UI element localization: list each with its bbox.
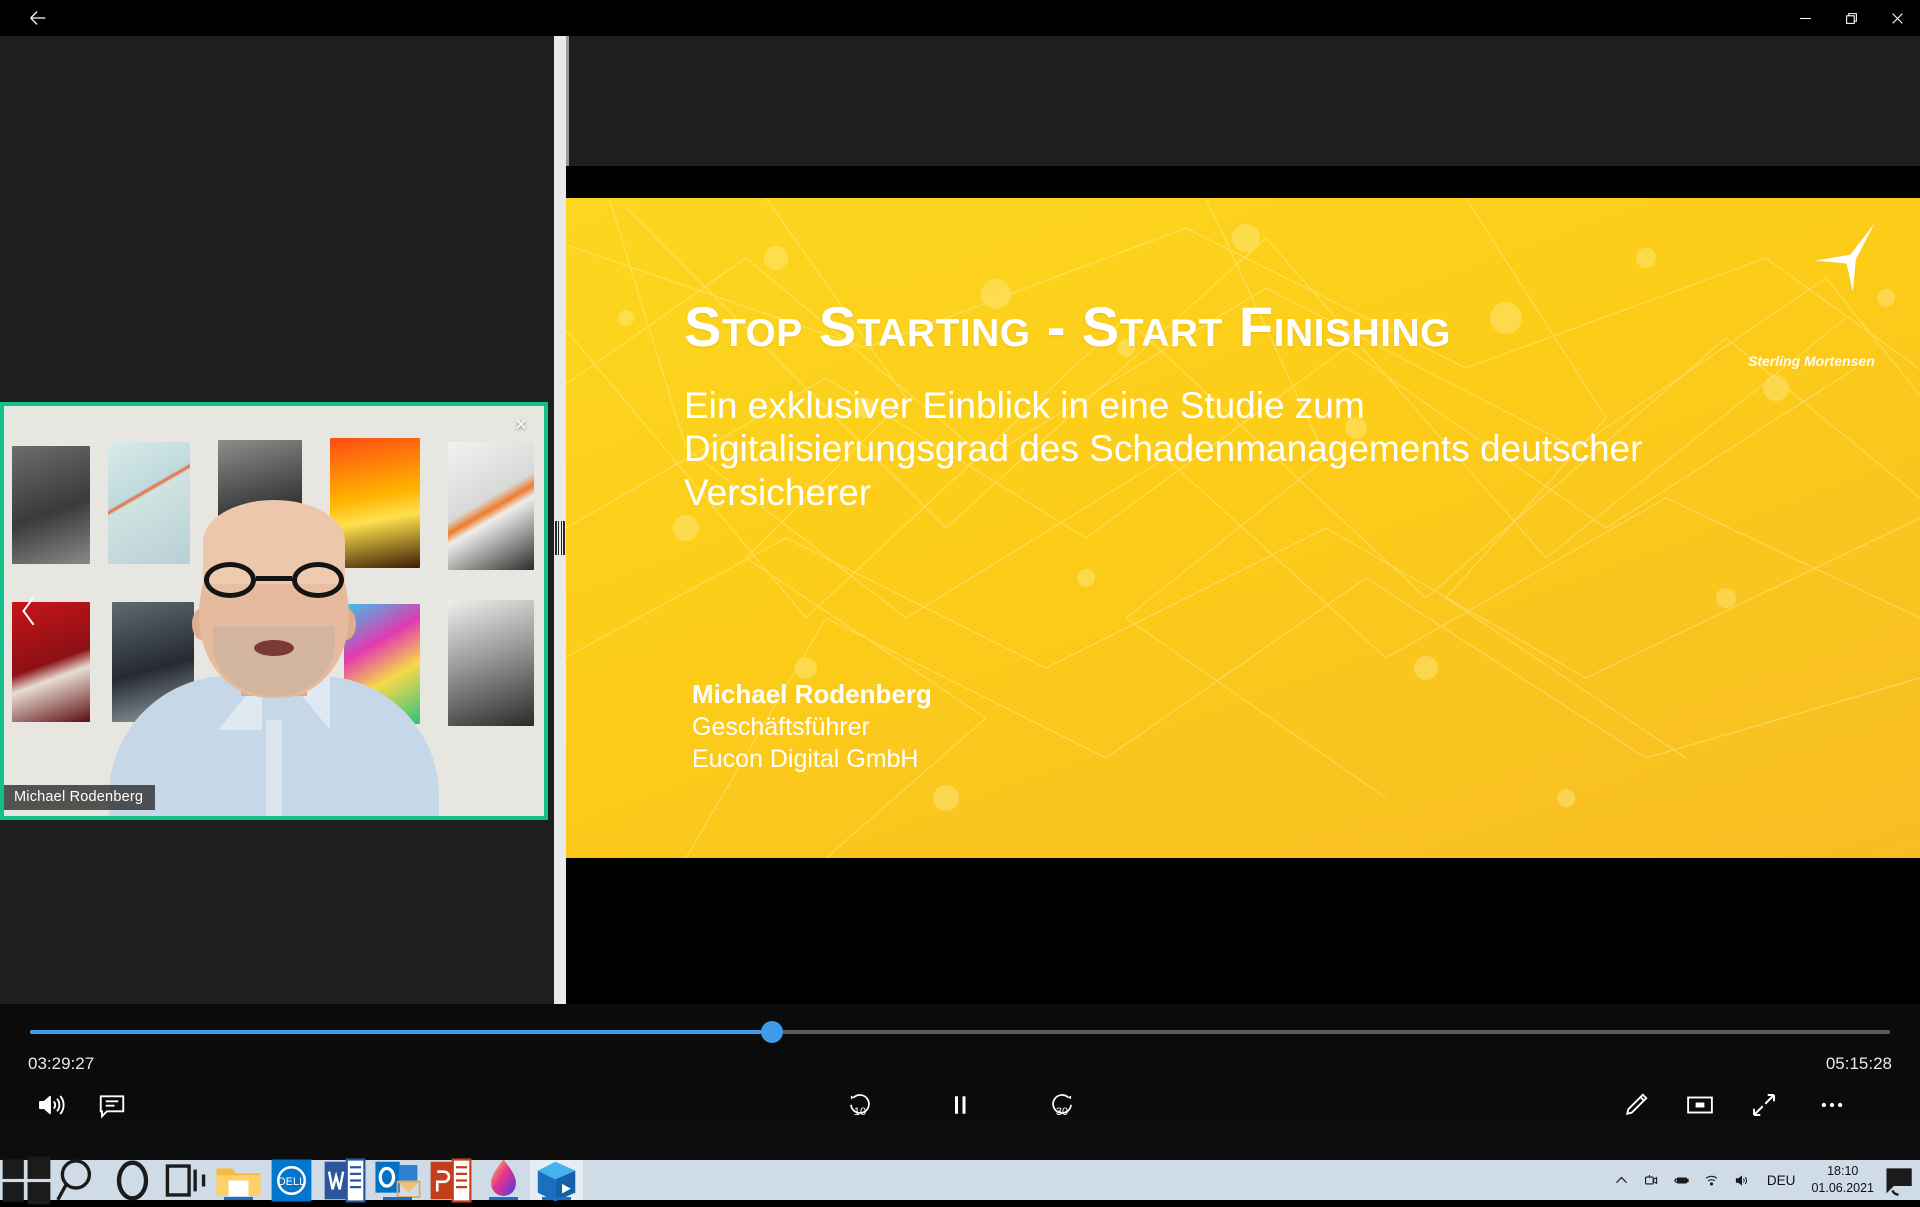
participant-mouth bbox=[254, 640, 294, 656]
slide-subtitle: Ein exklusiver Einblick in eine Studie z… bbox=[684, 384, 1684, 514]
clock-time: 18:10 bbox=[1811, 1163, 1874, 1180]
captions-button[interactable] bbox=[90, 1086, 134, 1124]
wifi-tray-button[interactable] bbox=[1697, 1160, 1727, 1200]
minimize-button[interactable] bbox=[1782, 0, 1828, 36]
dell-icon: DELL bbox=[265, 1154, 318, 1207]
system-tray: DEU 18:10 01.06.2021 bbox=[1607, 1160, 1920, 1200]
camera-icon bbox=[1643, 1172, 1660, 1189]
slide-letterbox-top bbox=[566, 166, 1920, 198]
current-time-label: 03:29:27 bbox=[28, 1054, 94, 1074]
camera-tray-button[interactable] bbox=[1637, 1160, 1667, 1200]
language-indicator[interactable]: DEU bbox=[1757, 1173, 1806, 1188]
close-button[interactable] bbox=[1874, 0, 1920, 36]
total-time-label: 05:15:28 bbox=[1826, 1054, 1892, 1074]
seek-bar[interactable] bbox=[30, 1030, 1890, 1034]
video-background-wall bbox=[4, 406, 544, 816]
volume-icon bbox=[1733, 1172, 1750, 1189]
volume-icon bbox=[35, 1090, 65, 1120]
wifi-icon bbox=[1703, 1172, 1720, 1189]
more-horizontal-icon bbox=[1817, 1090, 1847, 1120]
taskbar-item-dell[interactable]: DELL bbox=[265, 1160, 318, 1200]
volume-button[interactable] bbox=[28, 1086, 72, 1124]
restore-button[interactable] bbox=[1828, 0, 1874, 36]
search-icon bbox=[53, 1154, 106, 1207]
shirt-placket bbox=[266, 720, 282, 816]
miniplayer-button[interactable] bbox=[1678, 1086, 1722, 1124]
pause-icon bbox=[945, 1090, 975, 1120]
captions-icon bbox=[97, 1090, 127, 1120]
minimize-icon bbox=[1799, 12, 1812, 25]
left-video-pane: × Michael Rodenberg bbox=[0, 36, 554, 1040]
glasses-bridge bbox=[256, 576, 292, 581]
taskbar-item-search[interactable] bbox=[53, 1160, 106, 1200]
glasses-lens-left bbox=[204, 562, 256, 598]
forward-amount-text: 30 bbox=[1056, 1106, 1068, 1118]
poster-art bbox=[448, 600, 534, 726]
presenter-company: Eucon Digital GmbH bbox=[692, 743, 932, 775]
taskbar-item-task-view[interactable] bbox=[159, 1160, 212, 1200]
notifications-button[interactable] bbox=[1882, 1160, 1920, 1200]
taskbar-item-start[interactable] bbox=[0, 1160, 53, 1200]
slide-title: Stop Starting - Start Finishing bbox=[684, 294, 1451, 359]
forward-30-button[interactable]: 30 bbox=[1040, 1086, 1084, 1124]
play-pause-button[interactable] bbox=[938, 1086, 982, 1124]
taskbar-item-file-explorer[interactable] bbox=[212, 1160, 265, 1200]
presentation-slide[interactable]: Stop Starting - Start Finishing Sterling… bbox=[566, 198, 1920, 858]
pencil-icon bbox=[1621, 1090, 1651, 1120]
taskbar-item-powerpoint[interactable] bbox=[424, 1160, 477, 1200]
player-controls: 03:29:27 05:15:28 10 bbox=[0, 1004, 1920, 1124]
participant-figure bbox=[109, 486, 439, 816]
slide-presenter-block: Michael Rodenberg Geschäftsführer Eucon … bbox=[692, 678, 932, 775]
taskbar-item-media-player[interactable] bbox=[530, 1160, 583, 1200]
back-arrow-icon bbox=[27, 7, 49, 29]
chevron-left-icon bbox=[18, 594, 40, 628]
app-root: × Michael Rodenberg bbox=[0, 0, 1920, 1200]
windows-taskbar: DELL bbox=[0, 1160, 1920, 1200]
seek-bar-progress bbox=[30, 1030, 772, 1034]
taskbar-item-word[interactable] bbox=[318, 1160, 371, 1200]
back-button[interactable] bbox=[14, 0, 62, 36]
rewind-10-icon: 10 bbox=[845, 1090, 875, 1120]
seek-bar-thumb[interactable] bbox=[761, 1021, 783, 1043]
word-icon bbox=[318, 1154, 371, 1207]
slide-attribution: Sterling Mortensen bbox=[1748, 353, 1875, 369]
rewind-amount-text: 10 bbox=[854, 1106, 866, 1118]
svg-text:DELL: DELL bbox=[278, 1175, 306, 1187]
player-stage: × Michael Rodenberg bbox=[0, 36, 1920, 1160]
glasses-lens-right bbox=[292, 562, 344, 598]
miniplayer-icon bbox=[1685, 1090, 1715, 1120]
fullscreen-icon bbox=[1749, 1090, 1779, 1120]
presenter-name: Michael Rodenberg bbox=[692, 678, 932, 711]
poster-art bbox=[448, 442, 534, 570]
battery-tray-button[interactable] bbox=[1667, 1160, 1697, 1200]
windows-start-icon bbox=[0, 1154, 53, 1207]
close-video-tile-button[interactable]: × bbox=[508, 412, 534, 438]
battery-charging-icon bbox=[1673, 1172, 1690, 1189]
participant-name-badge: Michael Rodenberg bbox=[4, 785, 155, 810]
splitter-grip bbox=[555, 521, 565, 555]
eucon-star-logo-icon bbox=[1806, 216, 1884, 296]
slide-pane: Stop Starting - Start Finishing Sterling… bbox=[566, 36, 1920, 1040]
show-hidden-icons-button[interactable] bbox=[1607, 1160, 1637, 1200]
chevron-up-icon bbox=[1613, 1172, 1630, 1189]
taskbar-item-outlook[interactable] bbox=[371, 1160, 424, 1200]
scroll-indicator[interactable] bbox=[566, 36, 569, 166]
cortana-icon bbox=[106, 1154, 159, 1207]
participant-video-tile[interactable]: × Michael Rodenberg bbox=[0, 402, 548, 820]
powerpoint-icon bbox=[424, 1154, 477, 1207]
taskbar-item-paint-3d[interactable] bbox=[477, 1160, 530, 1200]
more-options-button[interactable] bbox=[1810, 1086, 1854, 1124]
left-pane-filler-top bbox=[0, 36, 554, 366]
close-icon bbox=[1891, 12, 1904, 25]
clock-date: 01.06.2021 bbox=[1811, 1180, 1874, 1197]
participant-glasses bbox=[204, 562, 344, 598]
fullscreen-button[interactable] bbox=[1742, 1086, 1786, 1124]
control-button-row: 10 30 bbox=[0, 1086, 1920, 1124]
forward-30-icon: 30 bbox=[1047, 1090, 1077, 1120]
volume-tray-button[interactable] bbox=[1727, 1160, 1757, 1200]
pane-splitter[interactable] bbox=[554, 36, 566, 1040]
previous-participant-button[interactable] bbox=[12, 588, 46, 634]
title-bar bbox=[0, 0, 1920, 36]
restore-icon bbox=[1845, 12, 1858, 25]
presenter-role: Geschäftsführer bbox=[692, 711, 932, 743]
annotate-button[interactable] bbox=[1614, 1086, 1658, 1124]
clock[interactable]: 18:10 01.06.2021 bbox=[1805, 1163, 1882, 1197]
poster-art bbox=[12, 446, 90, 564]
taskbar-item-cortana[interactable] bbox=[106, 1160, 159, 1200]
window-controls bbox=[1782, 0, 1920, 36]
task-view-icon bbox=[159, 1154, 212, 1207]
rewind-10-button[interactable]: 10 bbox=[838, 1086, 882, 1124]
notifications-icon bbox=[1882, 1161, 1920, 1199]
